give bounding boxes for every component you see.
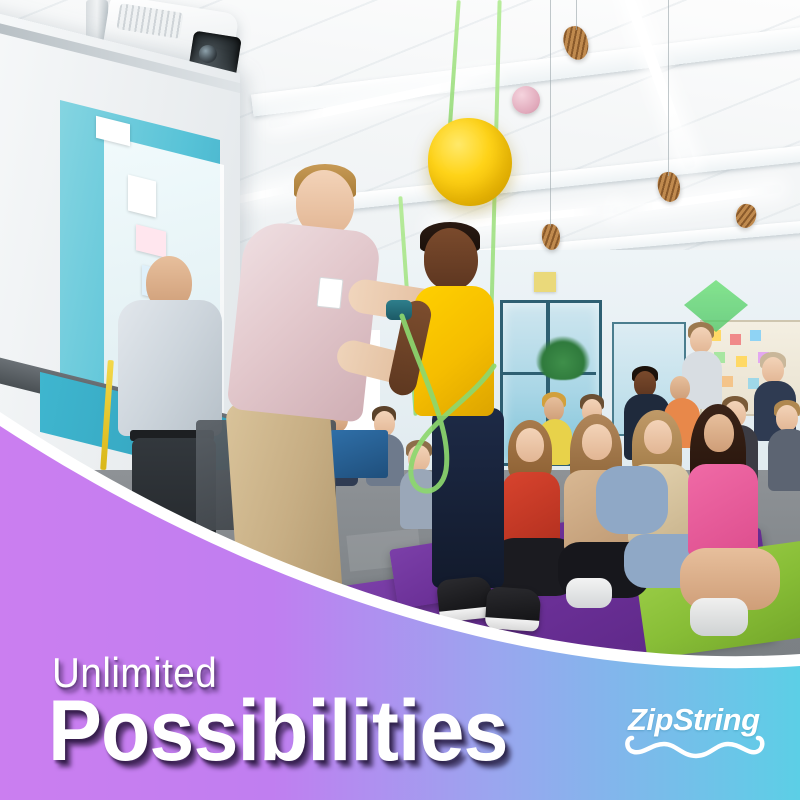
photo-depth-blur bbox=[0, 640, 800, 760]
equipment-bin-blue bbox=[330, 430, 388, 478]
sneaker bbox=[566, 578, 612, 608]
child-legs bbox=[596, 466, 668, 534]
child-head bbox=[670, 376, 690, 400]
student-pants bbox=[432, 408, 504, 588]
sticky-note bbox=[722, 376, 733, 387]
child-head bbox=[776, 405, 798, 431]
wall-poster-1 bbox=[128, 175, 156, 218]
sticky-note bbox=[750, 330, 761, 341]
child-torso bbox=[688, 464, 758, 556]
presenter-pants bbox=[225, 397, 343, 604]
decoration-thread-1 bbox=[576, 0, 577, 30]
yellow-card-decoration bbox=[534, 272, 556, 292]
presenter-name-badge bbox=[316, 277, 343, 309]
child-head bbox=[582, 424, 612, 460]
decoration-thread-3 bbox=[550, 0, 551, 226]
child-head bbox=[762, 357, 784, 383]
yellow-hanging-ball bbox=[428, 118, 512, 206]
man-gray-shirt-torso bbox=[118, 300, 222, 436]
child-torso bbox=[502, 472, 560, 546]
child-head bbox=[544, 397, 564, 421]
presenter-torso bbox=[226, 219, 381, 422]
child-head bbox=[644, 420, 672, 454]
classroom-photo bbox=[0, 0, 800, 800]
sticky-note bbox=[736, 356, 747, 367]
zipstring-device-handle bbox=[386, 300, 412, 320]
sticky-note bbox=[730, 334, 741, 345]
child-head bbox=[704, 414, 734, 452]
student-sneaker-right bbox=[485, 586, 542, 632]
decoration-thread-2 bbox=[668, 0, 669, 176]
child-head bbox=[408, 445, 430, 471]
hanging-plant bbox=[536, 336, 590, 380]
floor-tile bbox=[75, 593, 157, 629]
sneaker bbox=[690, 598, 748, 636]
student-head bbox=[424, 228, 478, 290]
child-head bbox=[690, 327, 712, 353]
pink-planet bbox=[512, 86, 540, 114]
promo-graphic: Unlimited Possibilities ZipString bbox=[0, 0, 800, 800]
child-head bbox=[516, 428, 544, 462]
child-torso bbox=[768, 429, 800, 491]
